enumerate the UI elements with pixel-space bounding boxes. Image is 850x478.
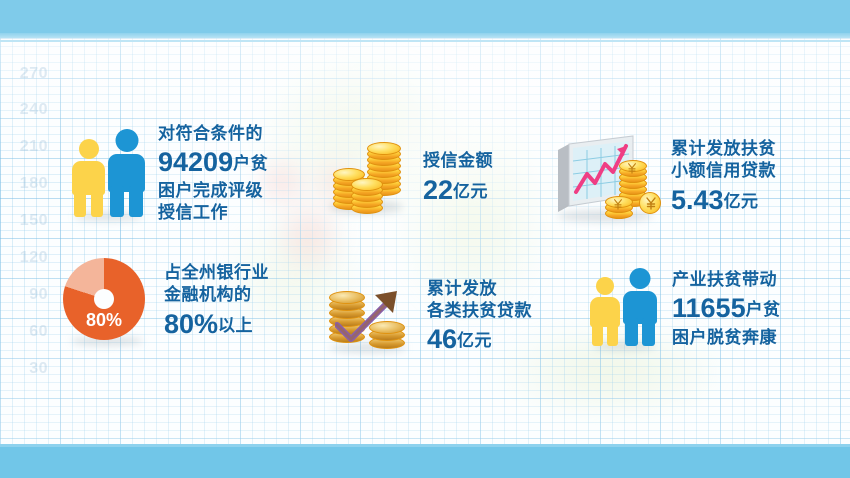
- stat-item-micro-credit-loans: 累计发放扶贫 小额信用贷款 5.43亿元: [553, 134, 776, 222]
- person-blue: [108, 129, 145, 217]
- axis-tick: 30: [4, 361, 48, 377]
- stat-value: 22: [423, 175, 453, 205]
- axis-tick: 240: [4, 102, 48, 118]
- stat-line-text: 亿元: [724, 192, 759, 211]
- stat-line: 各类扶贫贷款: [427, 300, 532, 322]
- stat-line: 困户完成评级: [158, 180, 268, 202]
- stat-line-text: 累计发放扶贫: [671, 139, 776, 158]
- background-white-wash: [0, 38, 850, 450]
- stat-item-credit-rating-households: 对符合条件的 94209户贫 困户完成评级 授信工作: [70, 123, 268, 224]
- stat-line-text: 小额信用贷款: [671, 161, 776, 180]
- stat-line: 11655户贫: [672, 291, 781, 326]
- axis-tick: 150: [4, 213, 48, 229]
- donut-chart: 80%: [63, 258, 145, 340]
- stat-value: 80%: [164, 309, 218, 339]
- top-banner-rule: [0, 40, 850, 42]
- stat-value: 46: [427, 324, 457, 354]
- person-yellow: [590, 277, 620, 346]
- stat-line: 产业扶贫带动: [672, 269, 781, 291]
- stat-item-total-poverty-loans: 累计发放 各类扶贫贷款 46亿元: [325, 278, 532, 357]
- top-banner-strip: [0, 33, 850, 38]
- stat-text-credit-amount: 授信金额 22亿元: [423, 150, 493, 207]
- stat-line: 占全州银行业: [164, 262, 269, 284]
- stat-line: 授信金额: [423, 150, 493, 172]
- stat-line-text: 对符合条件的: [158, 124, 263, 143]
- stat-line: 80%以上: [164, 307, 269, 342]
- donut-hole: [94, 289, 114, 309]
- stat-value: 94209: [158, 147, 233, 177]
- bottom-banner: [0, 447, 850, 478]
- axis-tick: 270: [4, 66, 48, 82]
- stat-line-text: 困户脱贫奔康: [672, 328, 777, 347]
- stat-line: 累计发放扶贫: [671, 138, 776, 160]
- yen-symbol-icon: [626, 162, 638, 174]
- coin-cluster: [605, 156, 661, 218]
- two-people-icon: [70, 126, 146, 221]
- stat-text-share-of-banking-institutions: 占全州银行业 金融机构的 80%以上: [164, 262, 269, 341]
- top-banner: [0, 0, 850, 33]
- growth-chart-coins-icon: [553, 134, 661, 222]
- stat-line: 累计发放: [427, 278, 532, 300]
- person-blue: [623, 268, 657, 346]
- person-yellow: [72, 139, 105, 217]
- stat-line: 对符合条件的: [158, 123, 268, 145]
- stat-text-credit-rating-households: 对符合条件的 94209户贫 困户完成评级 授信工作: [158, 123, 268, 224]
- yen-symbol-icon: [645, 196, 657, 210]
- two-people-icon: [588, 268, 662, 350]
- stat-line-text: 亿元: [453, 182, 488, 201]
- stat-line-text: 产业扶贫带动: [672, 270, 777, 289]
- rising-arrow-icon: [335, 287, 411, 347]
- stat-line: 46亿元: [427, 322, 532, 357]
- stat-line: 困户脱贫奔康: [672, 327, 781, 349]
- stat-line-text: 授信金额: [423, 151, 493, 170]
- donut-value-label: 80%: [63, 310, 145, 331]
- stat-line: 授信工作: [158, 202, 268, 224]
- stat-line-text: 累计发放: [427, 279, 497, 298]
- axis-tick: 120: [4, 250, 48, 266]
- stat-item-credit-amount: 授信金额 22亿元: [327, 140, 493, 218]
- stat-line-text: 金融机构的: [164, 285, 252, 304]
- stat-line: 94209户贫: [158, 145, 268, 180]
- stat-text-industry-poverty-relief: 产业扶贫带动 11655户贫 困户脱贫奔康: [672, 269, 781, 348]
- stat-line-text: 授信工作: [158, 203, 228, 222]
- stat-line: 小额信用贷款: [671, 160, 776, 182]
- stat-line-text: 户贫: [233, 154, 268, 173]
- stat-text-total-poverty-loans: 累计发放 各类扶贫贷款 46亿元: [427, 278, 532, 357]
- coin-stacks-icon: [327, 140, 409, 218]
- axis-tick: 180: [4, 176, 48, 192]
- donut-chart-icon: 80%: [63, 258, 151, 346]
- background-axis-ticks: 270 240 210 180 150 120 90 60 30: [4, 38, 60, 450]
- coins-arrow-icon: [325, 283, 413, 353]
- stat-line-text: 困户完成评级: [158, 181, 263, 200]
- stat-item-industry-poverty-relief: 产业扶贫带动 11655户贫 困户脱贫奔康: [588, 268, 781, 350]
- stat-line-text: 户贫: [746, 300, 781, 319]
- stat-line: 5.43亿元: [671, 183, 776, 218]
- infographic-canvas: 270 240 210 180 150 120 90 60 30: [0, 0, 850, 478]
- stat-line: 金融机构的: [164, 284, 269, 306]
- stat-value: 11655: [672, 293, 746, 323]
- stat-item-share-of-banking-institutions: 80% 占全州银行业 金融机构的 80%以上: [63, 258, 269, 346]
- stat-line-text: 亿元: [457, 331, 492, 350]
- axis-tick: 90: [4, 287, 48, 303]
- stat-text-micro-credit-loans: 累计发放扶贫 小额信用贷款 5.43亿元: [671, 138, 776, 217]
- stat-line-text: 占全州银行业: [164, 263, 269, 282]
- yen-symbol-icon: [612, 198, 624, 210]
- axis-tick: 210: [4, 139, 48, 155]
- stat-value: 5.43: [671, 185, 724, 215]
- axis-tick: 60: [4, 324, 48, 340]
- stat-line-text: 以上: [218, 316, 253, 335]
- stat-line-text: 各类扶贫贷款: [427, 301, 532, 320]
- stat-line: 22亿元: [423, 173, 493, 208]
